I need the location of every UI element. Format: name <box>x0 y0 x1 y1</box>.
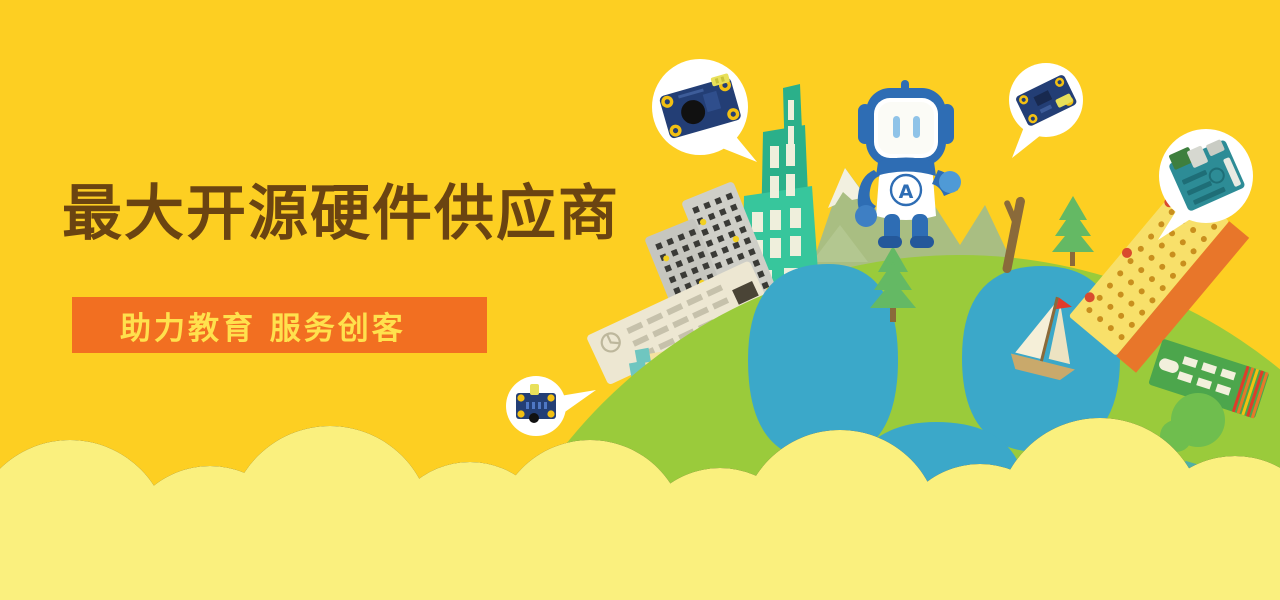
svg-text:A: A <box>899 181 914 203</box>
subtitle-bar: 助力教育 服务创客 <box>72 297 487 353</box>
promo-banner: A <box>0 0 1280 600</box>
page-title: 最大开源硬件供应商 <box>62 183 622 246</box>
lake-left <box>748 264 898 460</box>
subtitle-text: 助力教育 服务创客 <box>120 303 406 348</box>
robot-eye-left <box>893 116 900 138</box>
headline-block: 最大开源硬件供应商 <box>62 183 622 246</box>
robot-eye-right <box>913 116 920 138</box>
